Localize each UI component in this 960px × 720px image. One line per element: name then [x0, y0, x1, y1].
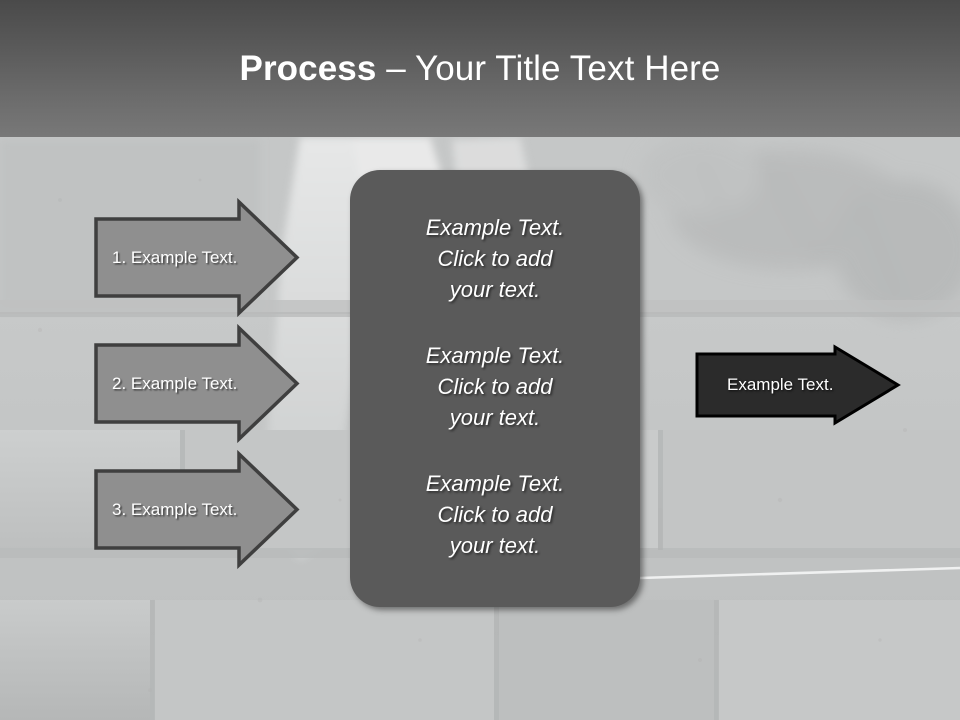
- step-arrow-2[interactable]: 2. Example Text.: [94, 326, 299, 441]
- step-arrow-3[interactable]: 3. Example Text.: [94, 452, 299, 567]
- step-arrow-3-label: 3. Example Text.: [112, 500, 237, 520]
- slide-canvas: Process – Your Title Text Here 1. Exampl…: [0, 0, 960, 720]
- center-content-panel[interactable]: Example Text. Click to add your text. Ex…: [350, 170, 640, 607]
- panel-text-block-3: Example Text. Click to add your text.: [350, 468, 640, 561]
- result-arrow-label: Example Text.: [727, 375, 833, 395]
- step-arrow-2-label: 2. Example Text.: [112, 374, 237, 394]
- page-title-rest: – Your Title Text Here: [376, 49, 720, 89]
- page-title: Process – Your Title Text Here: [0, 0, 960, 137]
- step-arrow-1-label: 1. Example Text.: [112, 248, 237, 268]
- result-arrow[interactable]: Example Text.: [695, 345, 900, 425]
- step-arrow-1[interactable]: 1. Example Text.: [94, 200, 299, 315]
- page-title-strong: Process: [240, 49, 377, 89]
- panel-text-block-1: Example Text. Click to add your text.: [350, 212, 640, 305]
- panel-text-block-2: Example Text. Click to add your text.: [350, 340, 640, 433]
